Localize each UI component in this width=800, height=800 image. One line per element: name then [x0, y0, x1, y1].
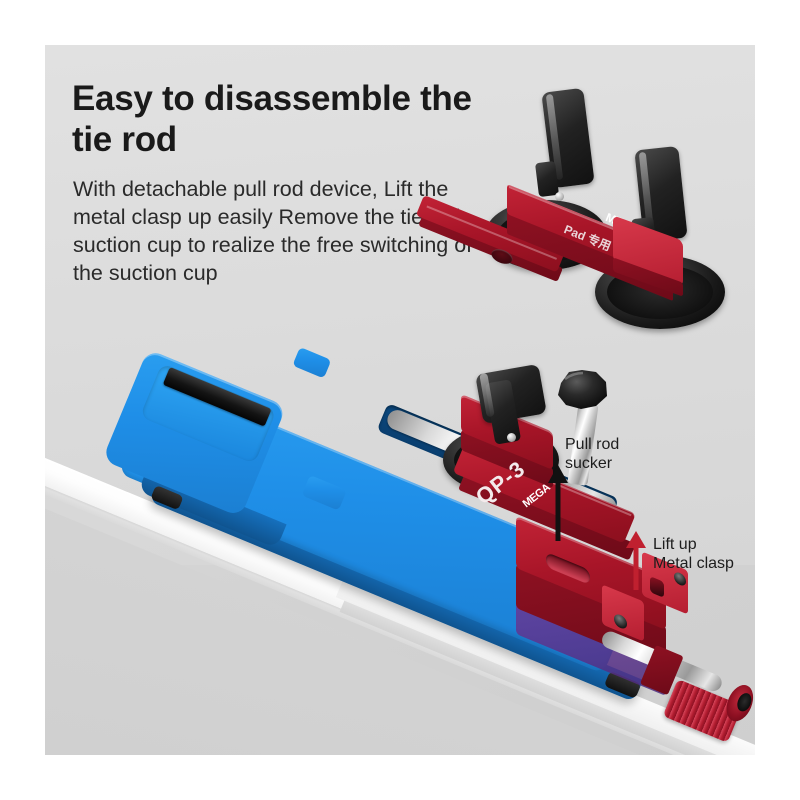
annotation-pull-rod-sucker: Pull rod sucker [565, 435, 619, 473]
lift-up-arrow [623, 530, 649, 592]
fixture-notch-top [292, 347, 331, 378]
pull-rod-arrow [543, 463, 573, 543]
product-image: Easy to disassemble the tie rod With det… [0, 0, 800, 800]
description-text: With detachable pull rod device, Lift th… [73, 175, 493, 287]
annotation-lift-up-metal-clasp: Lift up Metal clasp [653, 535, 734, 573]
grey-product-panel: Easy to disassemble the tie rod With det… [45, 45, 755, 755]
qp3-star-knob [551, 365, 615, 413]
star-knob-icon [551, 365, 615, 413]
qp3-lever-pin [507, 433, 516, 442]
lever-left-pin [555, 192, 564, 201]
red-suction-cup-tool: Pad 专用 MEGA [445, 100, 725, 350]
page-title: Easy to disassemble the tie rod [72, 78, 492, 160]
lever-left-foot [535, 161, 559, 197]
